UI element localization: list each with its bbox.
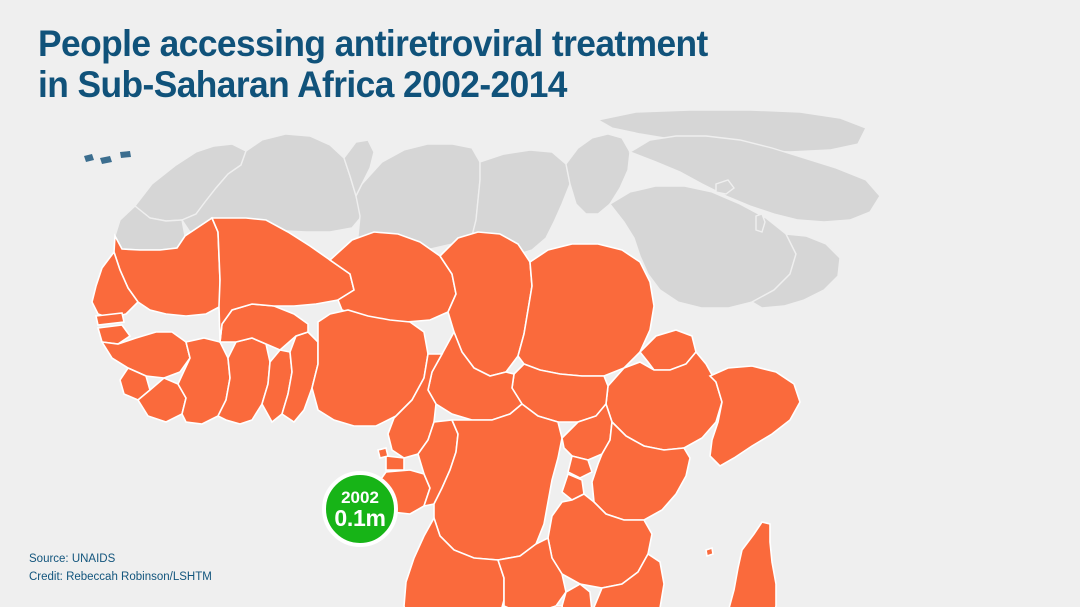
island-bioko bbox=[378, 448, 388, 458]
data-marker-bubble[interactable]: 2002 0.1m bbox=[322, 471, 398, 547]
africa-map bbox=[0, 110, 1080, 607]
credits-block: Source: UNAIDS Credit: Rebeccah Robinson… bbox=[29, 550, 212, 586]
page-title-line-2: in Sub-Saharan Africa 2002-2014 bbox=[38, 64, 859, 105]
source-line: Source: UNAIDS bbox=[29, 550, 212, 568]
island-canary-1 bbox=[84, 154, 94, 162]
country-gambia bbox=[96, 313, 124, 325]
credit-line: Credit: Rebeccah Robinson/LSHTM bbox=[29, 568, 212, 586]
island-canary-3 bbox=[120, 151, 131, 158]
country-somalia bbox=[710, 366, 800, 466]
country-madagascar bbox=[722, 522, 776, 607]
island-canary-2 bbox=[100, 156, 112, 164]
country-sudan bbox=[518, 244, 654, 376]
slide-canvas: People accessing antiretroviral treatmen… bbox=[0, 0, 1080, 607]
map-container: 2002 0.1m bbox=[0, 110, 1080, 607]
marker-value-label: 0.1m bbox=[334, 507, 385, 530]
island-comoros bbox=[706, 548, 713, 556]
page-title-line-1: People accessing antiretroviral treatmen… bbox=[38, 23, 859, 64]
page-title: People accessing antiretroviral treatmen… bbox=[38, 23, 898, 105]
country-malawi bbox=[562, 584, 592, 607]
country-equatorial-guinea bbox=[386, 456, 404, 470]
marker-year-label: 2002 bbox=[341, 489, 379, 506]
